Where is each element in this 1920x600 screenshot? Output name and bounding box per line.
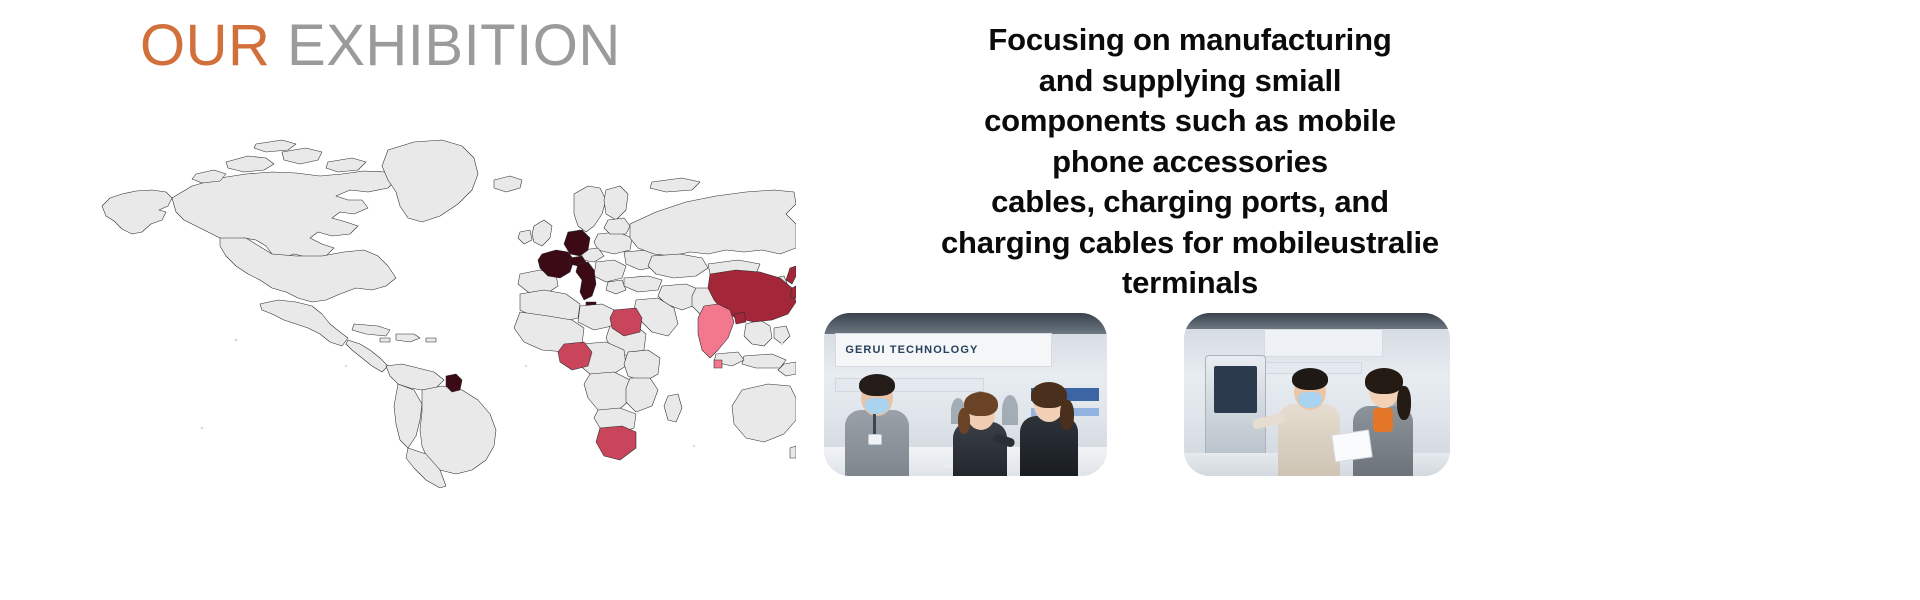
description-line: charging cables for mobileustralie (840, 223, 1540, 264)
country-australia (732, 384, 796, 442)
country-libya (578, 304, 614, 330)
person-hair (1365, 368, 1403, 394)
country-alaska (102, 190, 172, 234)
page-title-rest: EXHIBITION (270, 13, 620, 78)
island-dot (235, 339, 238, 342)
country-congo-angola (584, 372, 630, 412)
country-new-zealand-1 (790, 446, 796, 458)
country-east-africa (624, 350, 660, 382)
page-title-highlight: OUR (140, 13, 270, 78)
country-philippines (774, 326, 790, 344)
booth-banner (1264, 329, 1383, 357)
photo-content (1184, 313, 1450, 476)
photo-content: GERUI TECHNOLOGY (824, 313, 1107, 476)
country-russia-north-islands (650, 178, 700, 192)
country-greenland (382, 140, 478, 222)
country-colombia-venezuela (386, 364, 444, 390)
slide-root: OUR EXHIBITION (0, 0, 1920, 600)
person-female-visitor-1 (949, 380, 1011, 476)
country-canada-arctic-3 (326, 158, 366, 172)
product-kiosk (1205, 355, 1266, 458)
country-iceland (494, 176, 522, 192)
exhibition-photo-kiosk-demo[interactable] (1184, 313, 1450, 476)
island-dot (525, 365, 527, 367)
booth-banner: GERUI TECHNOLOGY (835, 333, 1052, 368)
country-tanzania-zambia (626, 378, 658, 412)
description-line: components such as mobile (840, 101, 1540, 142)
country-sri-lanka (714, 360, 722, 368)
country-norway-sweden (574, 186, 606, 232)
country-southeast-asia (744, 320, 772, 346)
world-map (96, 128, 796, 488)
kiosk-screen (1214, 366, 1256, 412)
island-dot (781, 343, 783, 345)
person-ponytail (958, 408, 970, 434)
country-india (698, 304, 734, 358)
country-canada-arctic-5 (254, 140, 296, 152)
country-bangladesh (734, 312, 746, 324)
country-indonesia-1 (742, 354, 786, 368)
country-madagascar (664, 394, 682, 422)
description-line: Focusing on manufacturing (840, 20, 1540, 61)
country-central-america (346, 340, 388, 372)
description-text: Focusing on manufacturing and supplying … (840, 20, 1540, 304)
person-hair (859, 374, 895, 396)
country-italy (576, 262, 596, 300)
description-line: terminals (840, 263, 1540, 304)
person-ponytail (1397, 386, 1411, 420)
country-united-kingdom (532, 220, 552, 246)
country-russia (630, 190, 796, 256)
island-dot (201, 427, 204, 430)
person-badge (868, 434, 882, 445)
description-line: cables, charging ports, and (840, 182, 1540, 223)
country-mexico (260, 300, 348, 346)
page-title: OUR EXHIBITION (140, 14, 621, 78)
country-south-africa (596, 426, 636, 460)
booth-ceiling (1184, 313, 1450, 329)
country-puerto-rico (426, 338, 436, 342)
person-hair (1292, 368, 1328, 390)
document-paper (1331, 429, 1373, 462)
person-lanyard (873, 414, 876, 436)
country-baltics (604, 218, 630, 234)
description-line: phone accessories (840, 142, 1540, 183)
country-turkey (624, 276, 662, 292)
country-peru-bolivia (394, 384, 422, 448)
country-nigeria (558, 342, 592, 370)
country-finland (604, 186, 628, 220)
country-cuba (352, 324, 390, 336)
person-ponytail (1060, 400, 1074, 430)
description-line: and supplying smiall (840, 61, 1540, 102)
person-female-presenter (1349, 360, 1419, 476)
booth-ceiling (824, 313, 1107, 334)
person-scarf (1373, 408, 1393, 432)
country-balkans (594, 260, 626, 282)
country-ireland (518, 230, 532, 244)
country-canada (172, 171, 396, 258)
country-japan (786, 266, 796, 284)
country-hispaniola (396, 334, 420, 342)
island-dot (693, 445, 695, 447)
country-greece (606, 280, 626, 294)
world-map-svg (96, 128, 796, 488)
booth-banner-text: GERUI TECHNOLOGY (836, 344, 978, 356)
country-jamaica (380, 338, 390, 342)
country-kazakhstan (648, 254, 708, 278)
person-male-staff (841, 364, 915, 476)
country-canada-arctic-1 (226, 156, 274, 172)
country-canada-arctic-2 (282, 148, 322, 164)
person-female-visitor-2 (1016, 372, 1082, 476)
island-dot (425, 457, 427, 459)
person-face-mask (865, 398, 889, 414)
exhibition-photo-booth-meeting[interactable]: GERUI TECHNOLOGY (824, 313, 1107, 476)
island-dot (345, 365, 347, 367)
